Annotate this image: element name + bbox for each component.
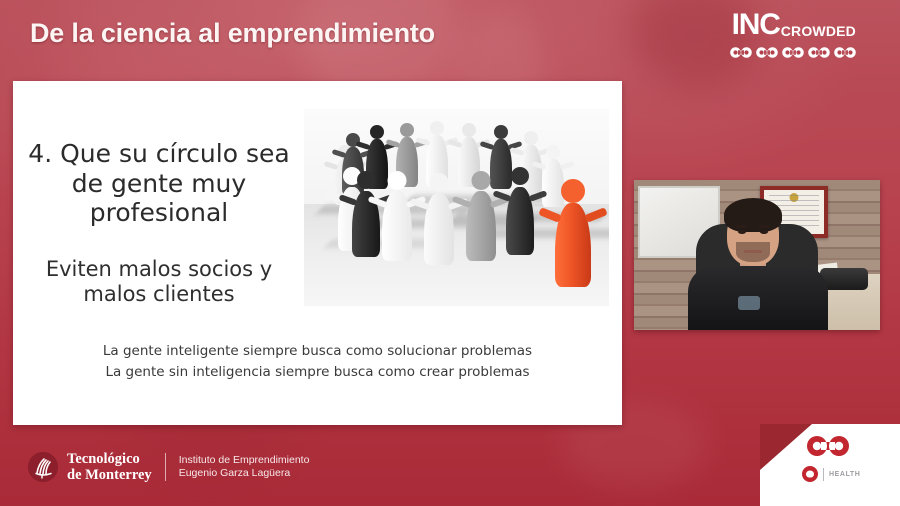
presenter-eye	[738, 230, 746, 234]
brand-panel: HEALTH	[760, 424, 900, 506]
chain-link-icon	[808, 46, 830, 59]
tec-seal-icon	[28, 452, 58, 482]
slide-quote-block: La gente inteligente siempre busca como …	[13, 341, 622, 383]
inc-logo-main: INC	[732, 10, 780, 40]
chain-link-icon	[756, 46, 778, 59]
presentation-slide[interactable]: 4. Que su círculo sea de gente muy profe…	[13, 81, 622, 425]
inc-logo-chain-row	[730, 46, 856, 59]
health-label: HEALTH	[829, 471, 860, 478]
presenter-eyebrow	[736, 225, 748, 228]
quote-line-2: La gente sin inteligencia siempre busca …	[13, 362, 622, 383]
tec-institute-name: Instituto de Emprendimiento Eugenio Garz…	[179, 454, 310, 482]
presentation-stage: De la ciencia al emprendimiento INC CROW…	[0, 0, 900, 506]
jacket-logo	[738, 296, 760, 310]
slide-subheading: Eviten malos socios y malos clientes	[23, 257, 295, 307]
institute-line1: Instituto de Emprendimiento	[179, 454, 310, 468]
badge-divider	[823, 468, 824, 481]
pawn-figure-highlighted	[552, 179, 594, 287]
pawn-figure	[422, 173, 456, 265]
pawn-figure	[504, 167, 536, 255]
pawn-figure	[380, 171, 414, 261]
tec-de-monterrey-logo: Tecnológico de Monterrey Instituto de Em…	[28, 451, 309, 484]
quote-line-1: La gente inteligente siempre busca como …	[13, 341, 622, 362]
page-title: De la ciencia al emprendimiento	[30, 18, 435, 49]
logo-divider	[165, 453, 166, 481]
brand-wedge-decoration	[760, 424, 812, 470]
presenter-hair	[724, 198, 782, 232]
slide-heading: 4. Que su círculo sea de gente muy profe…	[23, 139, 295, 228]
tec-flame-icon	[28, 452, 58, 482]
presenter-eyebrow	[758, 225, 770, 228]
chain-link-icon	[782, 46, 804, 59]
presenter-eye	[760, 230, 768, 234]
inc-crowded-logo: INC CROWDED	[730, 10, 856, 59]
inc-logo-sub: CROWDED	[781, 24, 856, 40]
chain-link-icon	[806, 434, 850, 458]
chain-link-icon	[730, 46, 752, 59]
institute-line2: Eugenio Garza Lagüera	[179, 467, 310, 481]
pawn-figure	[350, 171, 382, 257]
chain-link-icon	[834, 46, 856, 59]
slide-content: 4. Que su círculo sea de gente muy profe…	[13, 81, 622, 425]
tec-wordmark-line2: de Monterrey	[67, 467, 152, 484]
presenter-mouth	[744, 250, 762, 253]
pawn-figure	[464, 171, 498, 261]
presenter-video-feed[interactable]	[634, 180, 880, 330]
tec-wordmark: Tecnológico de Monterrey	[67, 451, 152, 484]
brand-health-badge: HEALTH	[802, 466, 860, 482]
circle-of-people-image	[304, 109, 609, 306]
tec-wordmark-line1: Tecnológico	[67, 451, 152, 468]
health-heart-icon	[802, 466, 818, 482]
